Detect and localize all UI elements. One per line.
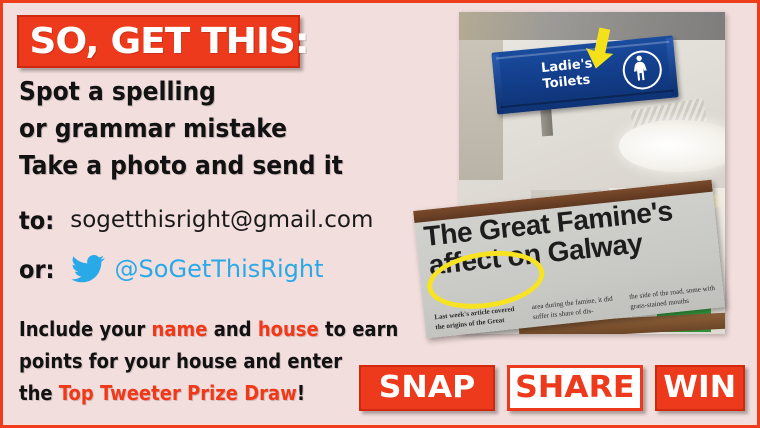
footnote-text-c: to earn xyxy=(319,317,399,341)
instruction-line-1: Spot a spelling xyxy=(19,79,216,105)
clipping-body-col-2: area during the famine, it did suffer it… xyxy=(531,294,620,322)
win-button[interactable]: WIN xyxy=(655,365,745,411)
poster-slide: SO, GET THIS: Spot a spelling or grammar… xyxy=(0,0,760,428)
twitter-row: or: @SoGetThisRight xyxy=(19,255,323,283)
footnote-text-a: Include your xyxy=(19,317,152,341)
footnote-line-1: Include your name and house to earn xyxy=(19,319,398,339)
footnote-line-3: the Top Tweeter Prize Draw! xyxy=(19,383,305,403)
email-address[interactable]: sogetthisright@gmail.com xyxy=(70,209,373,232)
email-label: to: xyxy=(19,208,54,233)
twitter-bird-icon[interactable] xyxy=(71,255,105,283)
clipping-body-col-1: Last week's article covered the origins … xyxy=(434,304,523,332)
footnote-text-b: and xyxy=(207,317,257,341)
footnote-text-e: ! xyxy=(297,381,305,405)
headline-banner: SO, GET THIS: xyxy=(17,15,300,68)
footnote-highlight-name: name xyxy=(152,317,208,341)
footnote-line-2: points for your house and enter xyxy=(19,351,342,371)
share-button-label: SHARE xyxy=(515,373,634,403)
footnote-highlight-house: house xyxy=(258,317,319,341)
clipping-body-col-3: the side of the road, some with grass-st… xyxy=(629,284,718,312)
instruction-line-3: Take a photo and send it xyxy=(19,153,343,179)
page-title: SO, GET THIS: xyxy=(19,24,309,60)
footnote-text-d: the xyxy=(19,381,59,405)
snap-button[interactable]: SNAP xyxy=(359,365,495,411)
photo-ceiling-lamp xyxy=(619,120,725,172)
footnote-highlight-prize: Top Tweeter Prize Draw xyxy=(59,381,297,405)
snap-button-label: SNAP xyxy=(379,373,476,403)
win-button-label: WIN xyxy=(664,373,737,403)
twitter-handle[interactable]: @SoGetThisRight xyxy=(115,257,324,281)
social-label: or: xyxy=(19,257,55,282)
instruction-line-2: or grammar mistake xyxy=(19,116,287,142)
womens-restroom-icon xyxy=(621,49,664,92)
sign-text-line-2: Toilets xyxy=(542,72,595,93)
share-button[interactable]: SHARE xyxy=(507,365,643,411)
email-row: to: sogetthisright@gmail.com xyxy=(19,208,373,233)
